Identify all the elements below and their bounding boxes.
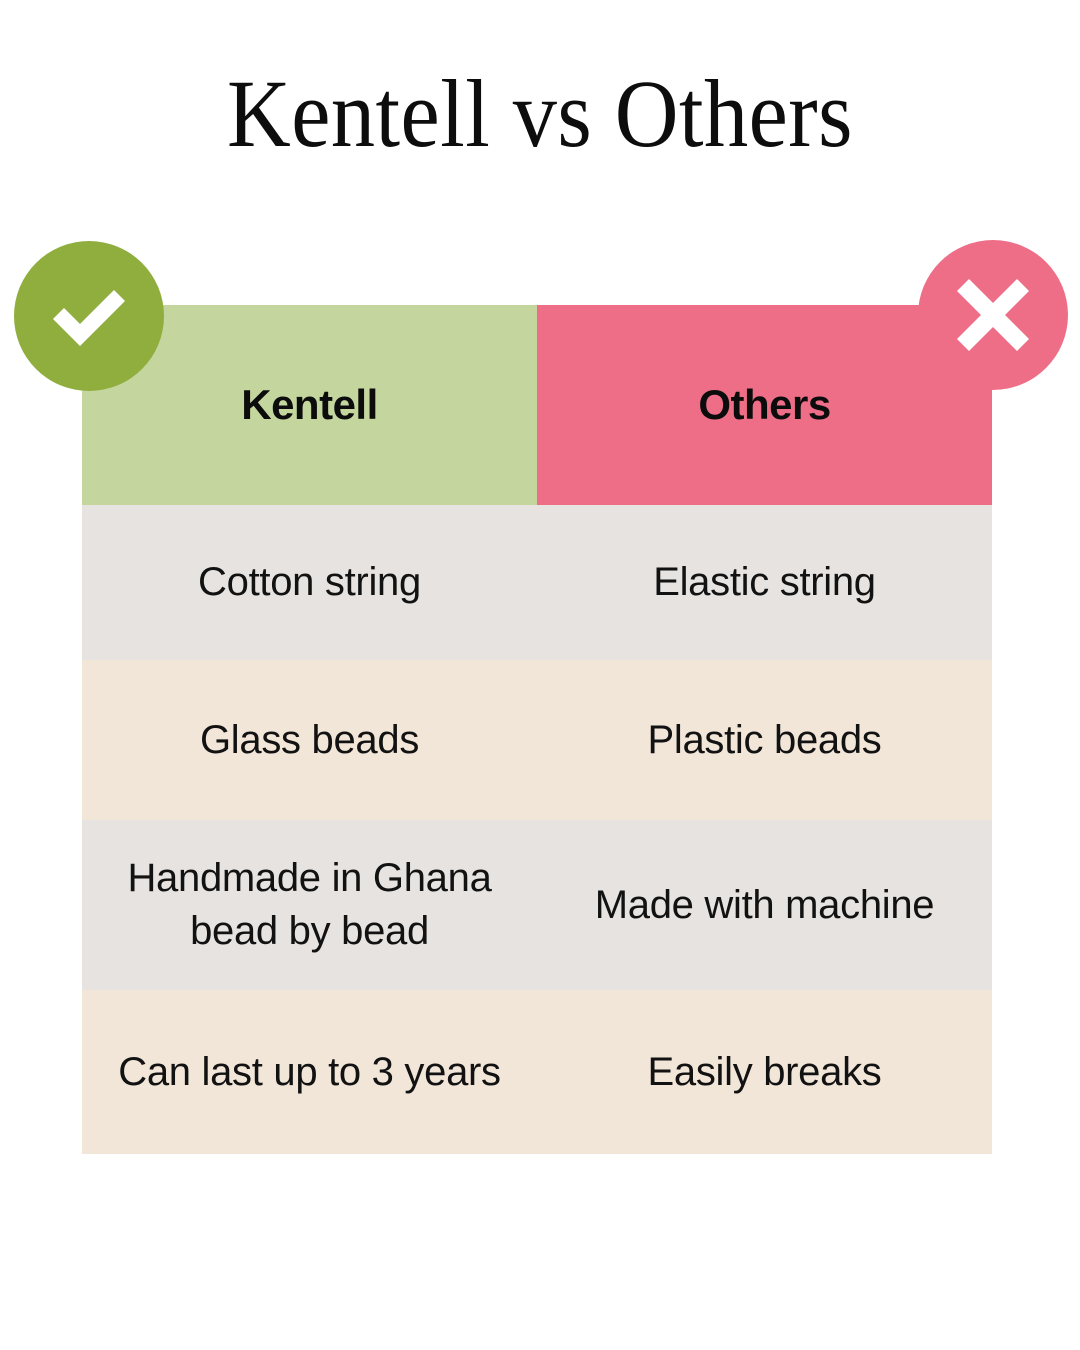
page-title-container: Kentell vs Others <box>0 64 1080 165</box>
table-cell-kentell-2: Glass beads <box>82 660 537 820</box>
table-cell-kentell-3: Handmade in Ghana bead by bead <box>82 820 537 990</box>
table-cell-kentell-3-line1: Handmade in Ghana <box>127 852 491 905</box>
table-cell-others-3: Made with machine <box>537 820 992 990</box>
comparison-table-grid: Kentell Others Cotton string Elastic str… <box>82 305 992 1154</box>
page-title: Kentell vs Others <box>43 64 1037 165</box>
x-circle-icon <box>918 240 1068 390</box>
table-cell-kentell-3-line2: bead by bead <box>127 905 491 958</box>
table-cell-kentell-1: Cotton string <box>82 505 537 660</box>
table-cell-others-4: Easily breaks <box>537 990 992 1154</box>
check-circle-icon <box>14 241 164 391</box>
table-cell-others-2: Plastic beads <box>537 660 992 820</box>
comparison-table: Kentell Others Cotton string Elastic str… <box>82 305 992 1154</box>
table-cell-kentell-4: Can last up to 3 years <box>82 990 537 1154</box>
table-cell-others-1: Elastic string <box>537 505 992 660</box>
